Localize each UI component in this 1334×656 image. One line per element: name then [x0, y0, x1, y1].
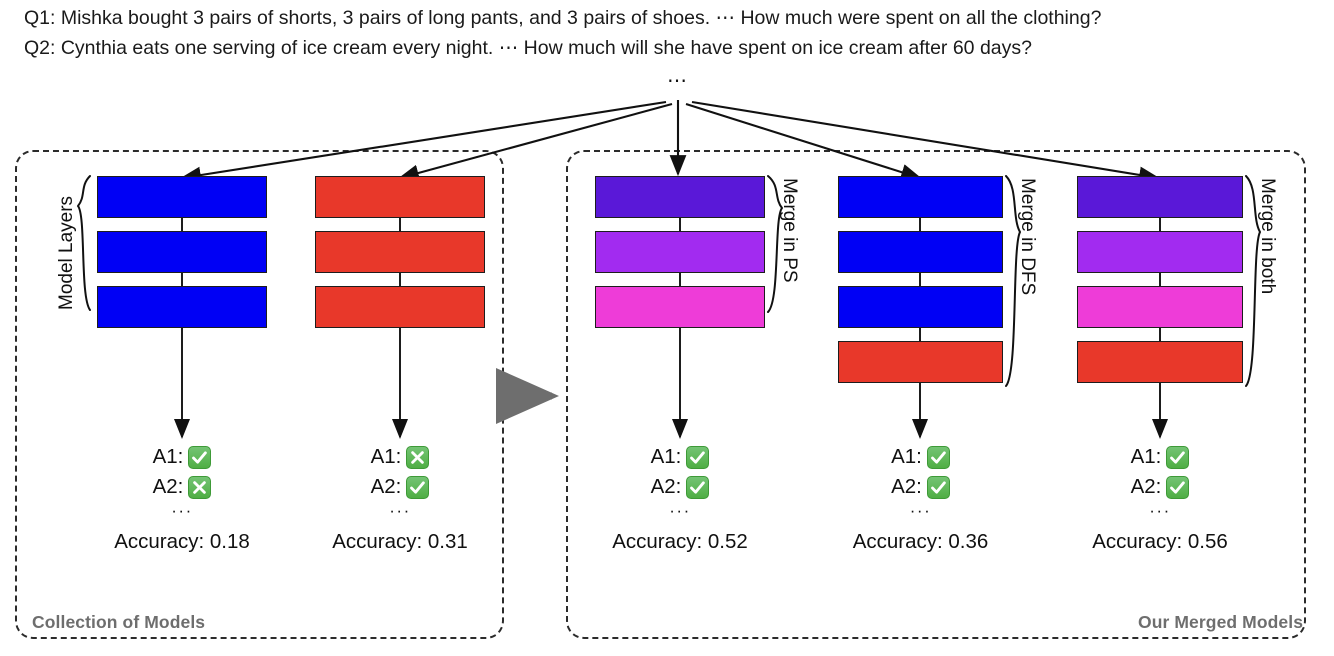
model-layer-block: [838, 231, 1003, 273]
accuracy-label: Accuracy: 0.18: [72, 530, 292, 554]
answers-ellipsis: ···: [72, 502, 292, 524]
figure-canvas: Q1: Mishka bought 3 pairs of shorts, 3 p…: [0, 0, 1334, 656]
answer-label: A2:: [153, 475, 184, 499]
model-layer-block: [595, 286, 765, 328]
accuracy-label: Accuracy: 0.31: [290, 530, 510, 554]
brace-label-model-layers: Model Layers: [56, 196, 78, 310]
answer-row: A1:: [72, 442, 292, 472]
answer-label: A2:: [371, 475, 402, 499]
cross-mark-icon: [406, 446, 429, 469]
model-layer-block: [1077, 341, 1243, 383]
model-layer-block: [838, 341, 1003, 383]
panel-our-merged-models: [566, 150, 1306, 639]
model-layer-block: [595, 231, 765, 273]
answer-label: A1:: [153, 445, 184, 469]
answer-label: A1:: [891, 445, 922, 469]
answer-row: A1:: [290, 442, 510, 472]
model-layer-block: [1077, 231, 1243, 273]
answers-ellipsis: ···: [1050, 502, 1270, 524]
answer-label: A2:: [1131, 475, 1162, 499]
model-answers: A1:A2:···Accuracy: 0.56: [1050, 442, 1270, 554]
answer-row: A2:: [570, 472, 790, 502]
accuracy-label: Accuracy: 0.36: [811, 530, 1031, 554]
answer-row: A2:: [811, 472, 1031, 502]
check-mark-icon: [1166, 446, 1189, 469]
check-mark-icon: [406, 476, 429, 499]
check-mark-icon: [927, 476, 950, 499]
answer-row: A2:: [1050, 472, 1270, 502]
model-layer-block: [315, 231, 485, 273]
panel-collection-of-models: [15, 150, 504, 639]
cross-mark-icon: [188, 476, 211, 499]
question-line-1: Q1: Mishka bought 3 pairs of shorts, 3 p…: [24, 6, 1101, 30]
answer-label: A1:: [651, 445, 682, 469]
model-layer-block: [1077, 176, 1243, 218]
answers-ellipsis: ···: [570, 502, 790, 524]
model-layer-block: [838, 286, 1003, 328]
answer-row: A2:: [72, 472, 292, 502]
brace-label-merge-ps: Merge in PS: [778, 178, 800, 283]
model-answers: A1:A2:···Accuracy: 0.52: [570, 442, 790, 554]
brace-label-merge-both: Merge in both: [1256, 178, 1278, 294]
answer-row: A1:: [1050, 442, 1270, 472]
brace-label-merge-dfs: Merge in DFS: [1016, 178, 1038, 295]
model-answers: A1:A2:···Accuracy: 0.18: [72, 442, 292, 554]
model-layer-block: [838, 176, 1003, 218]
answers-ellipsis: ···: [811, 502, 1031, 524]
answer-row: A1:: [811, 442, 1031, 472]
answer-row: A1:: [570, 442, 790, 472]
panel-label-merged: Our Merged Models: [1138, 612, 1303, 633]
model-layer-block: [97, 176, 267, 218]
answer-label: A1:: [371, 445, 402, 469]
check-mark-icon: [686, 476, 709, 499]
panel-label-collection: Collection of Models: [32, 612, 205, 633]
model-layer-block: [595, 176, 765, 218]
model-layer-block: [315, 176, 485, 218]
question-line-2: Q2: Cynthia eats one serving of ice crea…: [24, 36, 1032, 60]
answer-label: A1:: [1131, 445, 1162, 469]
check-mark-icon: [1166, 476, 1189, 499]
accuracy-label: Accuracy: 0.52: [570, 530, 790, 554]
check-mark-icon: [927, 446, 950, 469]
answer-label: A2:: [651, 475, 682, 499]
question-ellipsis: ⋯: [660, 68, 696, 93]
model-layer-block: [97, 286, 267, 328]
accuracy-label: Accuracy: 0.56: [1050, 530, 1270, 554]
check-mark-icon: [188, 446, 211, 469]
model-layer-block: [97, 231, 267, 273]
check-mark-icon: [686, 446, 709, 469]
answers-ellipsis: ···: [290, 502, 510, 524]
model-answers: A1:A2:···Accuracy: 0.36: [811, 442, 1031, 554]
model-layer-block: [315, 286, 485, 328]
answer-row: A2:: [290, 472, 510, 502]
answer-label: A2:: [891, 475, 922, 499]
model-layer-block: [1077, 286, 1243, 328]
model-answers: A1:A2:···Accuracy: 0.31: [290, 442, 510, 554]
